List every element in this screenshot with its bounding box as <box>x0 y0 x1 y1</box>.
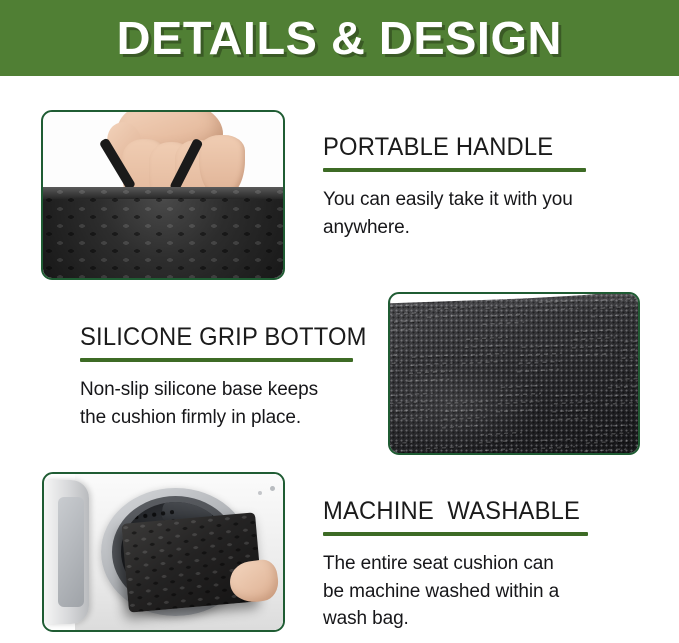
feature-heading-portable-handle: PORTABLE HANDLE <box>323 134 608 161</box>
heading-underline <box>80 358 353 362</box>
washing-machine-illustration <box>44 474 283 630</box>
page-title: DETAILS & DESIGN <box>117 15 562 61</box>
wave-motif <box>620 340 638 369</box>
portable-handle-illustration <box>43 112 283 278</box>
feature-heading-machine-washable: MACHINE WASHABLE <box>323 498 618 525</box>
wave-motif <box>570 329 617 358</box>
cushion-texture <box>43 187 283 278</box>
feature-body-silicone-grip-bottom: Non-slip silicone base keeps the cushion… <box>80 376 380 431</box>
wave-motif <box>584 425 631 453</box>
seat-cushion-body <box>43 187 283 278</box>
feature-image-machine-washable <box>42 472 285 632</box>
heading-underline <box>323 168 586 172</box>
feature-text-silicone-grip-bottom: SILICONE GRIP BOTTOM Non-slip silicone b… <box>80 324 380 431</box>
washer-screw <box>270 486 275 491</box>
wave-motif <box>605 377 638 406</box>
feature-image-portable-handle <box>41 110 285 280</box>
feature-text-machine-washable: MACHINE WASHABLE The entire seat cushion… <box>323 498 633 633</box>
feature-heading-silicone-grip-bottom: SILICONE GRIP BOTTOM <box>80 324 365 351</box>
silicone-grip-illustration <box>390 294 638 453</box>
feature-text-portable-handle: PORTABLE HANDLE You can easily take it w… <box>323 134 623 241</box>
wave-motif <box>390 304 423 333</box>
feature-image-silicone-grip-bottom <box>388 292 640 455</box>
washer-screw <box>258 491 262 495</box>
header-banner: DETAILS & DESIGN <box>0 0 679 76</box>
specular-highlight <box>390 358 539 453</box>
feature-body-portable-handle: You can easily take it with you anywhere… <box>323 186 623 241</box>
washer-door <box>44 480 89 624</box>
washer-door-glass <box>58 497 84 606</box>
wave-motif <box>551 393 598 422</box>
feature-body-machine-washable: The entire seat cushion can be machine w… <box>323 550 633 633</box>
heading-underline <box>323 532 588 536</box>
